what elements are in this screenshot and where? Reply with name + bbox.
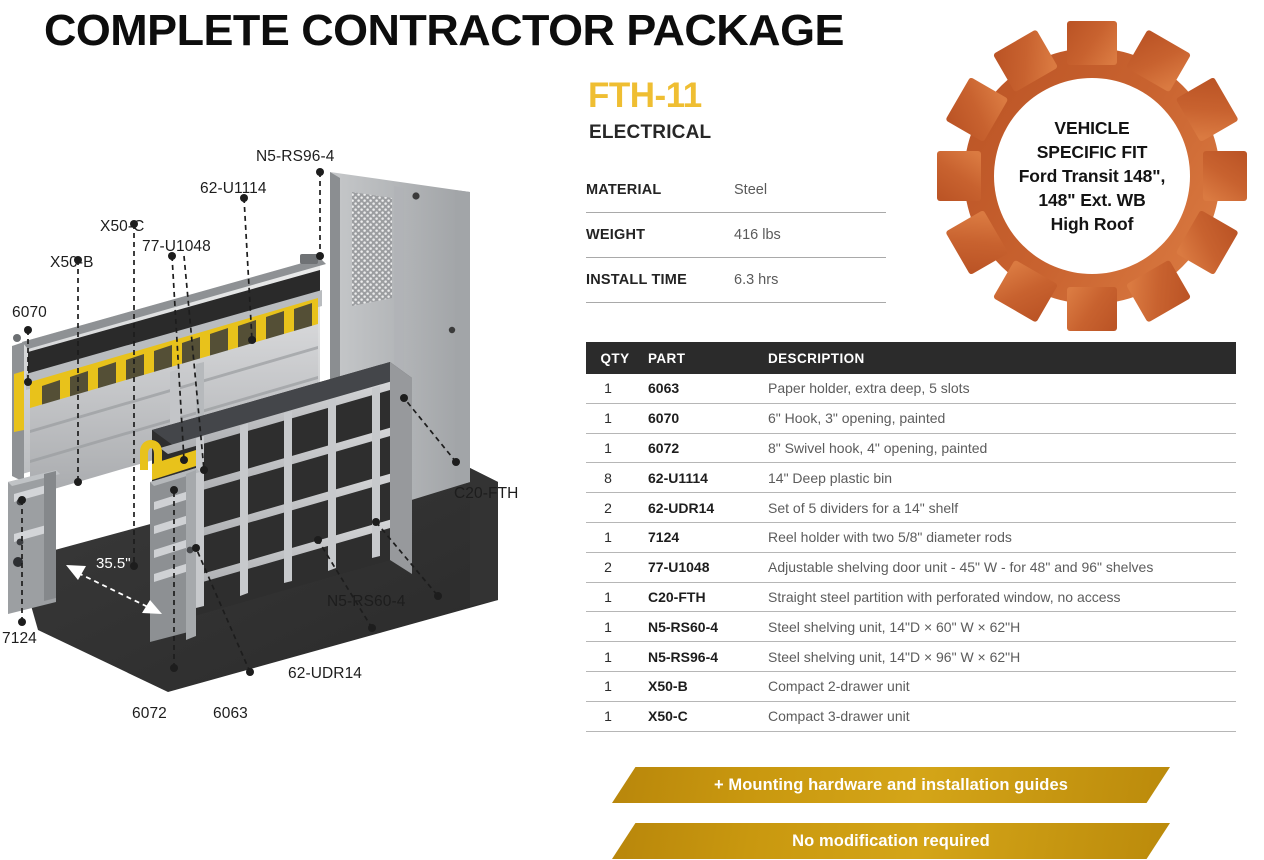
cell-part: 6063 [640, 380, 758, 396]
product-sku: FTH-11 [588, 78, 702, 113]
column-header-description: DESCRIPTION [758, 351, 1236, 366]
cell-qty: 1 [586, 589, 640, 605]
cell-desc: Steel shelving unit, 14"D × 96" W × 62"H [758, 649, 1236, 665]
spec-value-material: Steel [734, 182, 767, 198]
table-row: 1 N5-RS96-4 Steel shelving unit, 14"D × … [586, 642, 1236, 672]
cell-qty: 2 [586, 500, 640, 516]
table-row: 2 77-U1048 Adjustable shelving door unit… [586, 553, 1236, 583]
banner-mounting-hardware: + Mounting hardware and installation gui… [612, 767, 1170, 803]
cell-qty: 1 [586, 708, 640, 724]
diagram-illustration [0, 130, 560, 750]
cell-part: 62-U1114 [640, 470, 758, 486]
cell-part: X50-C [640, 708, 758, 724]
cell-qty: 1 [586, 410, 640, 426]
table-row: 2 62-UDR14 Set of 5 dividers for a 14" s… [586, 493, 1236, 523]
table-row: 1 C20-FTH Straight steel partition with … [586, 583, 1236, 613]
table-row: 1 N5-RS60-4 Steel shelving unit, 14"D × … [586, 612, 1236, 642]
table-row: 1 X50-C Compact 3-drawer unit [586, 702, 1236, 732]
column-header-qty: QTY [586, 351, 640, 366]
cell-part: C20-FTH [640, 589, 758, 605]
cell-desc: Steel shelving unit, 14"D × 60" W × 62"H [758, 619, 1236, 635]
callout-c20-fth: C20-FTH [454, 485, 518, 503]
table-row: 1 7124 Reel holder with two 5/8" diamete… [586, 523, 1236, 553]
cell-qty: 8 [586, 470, 640, 486]
product-category: ELECTRICAL [589, 122, 711, 144]
callout-n5-rs96-4: N5-RS96-4 [256, 148, 334, 166]
cell-desc: Straight steel partition with perforated… [758, 589, 1236, 605]
cell-part: N5-RS96-4 [640, 649, 758, 665]
cell-desc: Reel holder with two 5/8" diameter rods [758, 529, 1236, 545]
table-row: 1 X50-B Compact 2-drawer unit [586, 672, 1236, 702]
callout-77-u1048: 77-U1048 [142, 238, 211, 256]
cell-part: 7124 [640, 529, 758, 545]
vehicle-fit-badge: VEHICLE SPECIFIC FIT Ford Transit 148", … [934, 18, 1250, 334]
column-header-part: PART [640, 351, 758, 366]
cell-part: 6072 [640, 440, 758, 456]
cell-part: N5-RS60-4 [640, 619, 758, 635]
cell-qty: 1 [586, 678, 640, 694]
dimension-label: 35.5" [96, 555, 131, 572]
spec-label-install-time: INSTALL TIME [586, 272, 734, 288]
cell-qty: 1 [586, 440, 640, 456]
banner-no-modification: No modification required [612, 823, 1170, 859]
cell-qty: 1 [586, 649, 640, 665]
spec-row-material: MATERIAL Steel [586, 168, 886, 213]
callout-7124: 7124 [2, 630, 37, 648]
cell-part: 77-U1048 [640, 559, 758, 575]
spec-value-install-time: 6.3 hrs [734, 272, 778, 288]
specifications-table: MATERIAL Steel WEIGHT 416 lbs INSTALL TI… [586, 168, 886, 303]
cell-qty: 1 [586, 529, 640, 545]
cell-desc: Compact 2-drawer unit [758, 678, 1236, 694]
callout-6070: 6070 [12, 304, 47, 322]
cell-part: X50-B [640, 678, 758, 694]
spec-row-install-time: INSTALL TIME 6.3 hrs [586, 258, 886, 303]
table-row: 1 6070 6" Hook, 3" opening, painted [586, 404, 1236, 434]
spec-value-weight: 416 lbs [734, 227, 781, 243]
callout-6063: 6063 [213, 705, 248, 723]
callout-n5-rs60-4: N5-RS60-4 [327, 593, 405, 611]
callout-x50-c: X50-C [100, 218, 144, 236]
cell-desc: Compact 3-drawer unit [758, 708, 1236, 724]
cell-part: 6070 [640, 410, 758, 426]
spec-row-weight: WEIGHT 416 lbs [586, 213, 886, 258]
parts-table: QTY PART DESCRIPTION 1 6063 Paper holder… [586, 342, 1236, 732]
table-row: 1 6072 8" Swivel hook, 4" opening, paint… [586, 434, 1236, 464]
page-title: COMPLETE CONTRACTOR PACKAGE [44, 6, 844, 56]
callout-x50-b: X50-B [50, 254, 94, 272]
callout-62-udr14: 62-UDR14 [288, 665, 362, 683]
cell-desc: 8" Swivel hook, 4" opening, painted [758, 440, 1236, 456]
package-spec-sheet: COMPLETE CONTRACTOR PACKAGE [0, 0, 1264, 860]
cell-qty: 2 [586, 559, 640, 575]
table-row: 8 62-U1114 14" Deep plastic bin [586, 463, 1236, 493]
cell-qty: 1 [586, 619, 640, 635]
cell-desc: 6" Hook, 3" opening, painted [758, 410, 1236, 426]
reel-holder [8, 470, 60, 614]
spec-label-weight: WEIGHT [586, 227, 734, 243]
cell-desc: Adjustable shelving door unit - 45" W - … [758, 559, 1236, 575]
callout-6072: 6072 [132, 705, 167, 723]
parts-table-header: QTY PART DESCRIPTION [586, 342, 1236, 374]
gear-icon [934, 18, 1250, 334]
cell-qty: 1 [586, 380, 640, 396]
cell-part: 62-UDR14 [640, 500, 758, 516]
product-diagram: 35.5" 6070 X50-B X50-C 77-U1048 62-U1114… [0, 130, 560, 750]
cell-desc: Paper holder, extra deep, 5 slots [758, 380, 1236, 396]
table-row: 1 6063 Paper holder, extra deep, 5 slots [586, 374, 1236, 404]
callout-62-u1114: 62-U1114 [200, 180, 267, 198]
cell-desc: 14" Deep plastic bin [758, 470, 1236, 486]
cell-desc: Set of 5 dividers for a 14" shelf [758, 500, 1236, 516]
spec-label-material: MATERIAL [586, 182, 734, 198]
